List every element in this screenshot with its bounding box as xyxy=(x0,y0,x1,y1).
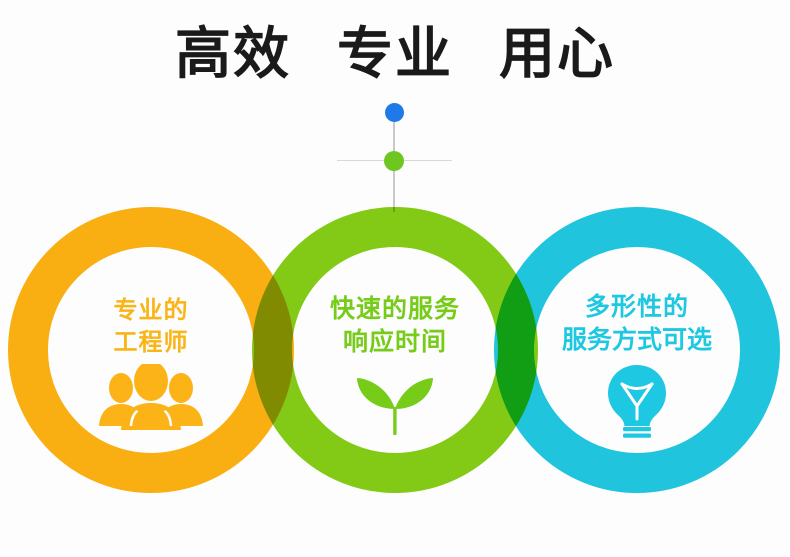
venn-ring-group xyxy=(0,0,790,557)
ring-service-options[interactable] xyxy=(494,207,780,493)
infographic-canvas: 高效专业用心 专业的 工程师 xyxy=(0,0,790,557)
